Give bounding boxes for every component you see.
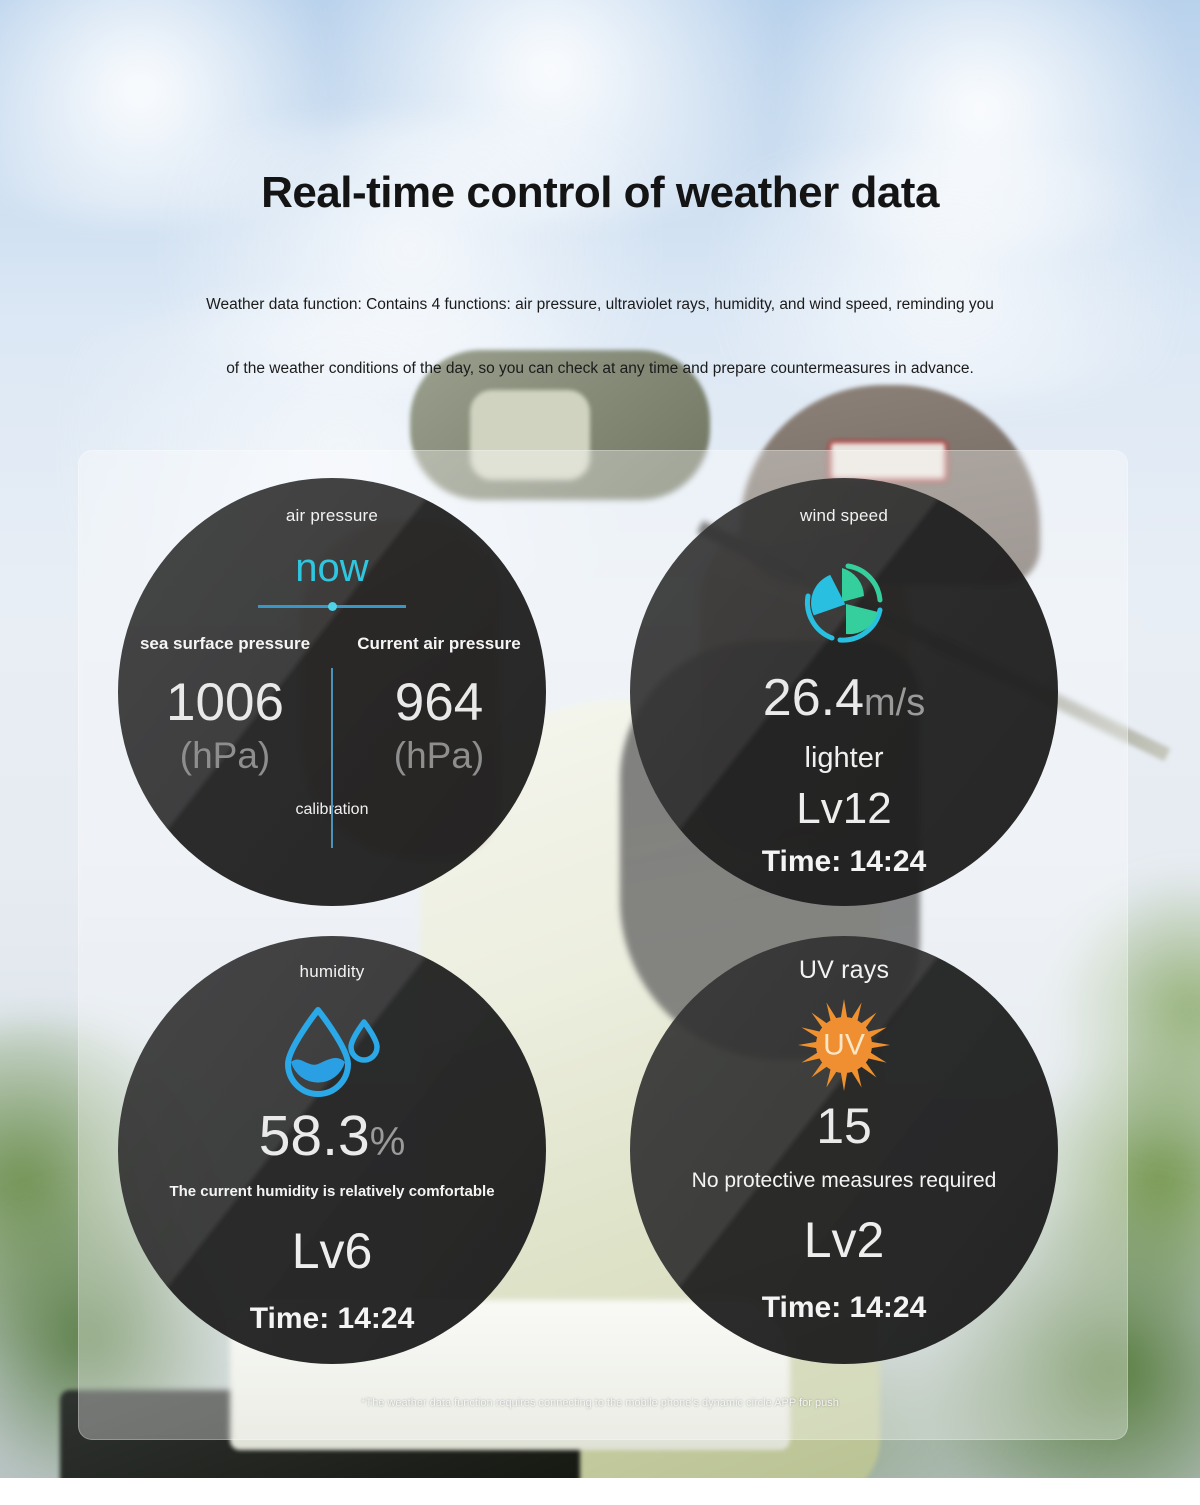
uv-rays-description: No protective measures required	[630, 1169, 1058, 1193]
humidity-level: Lv6	[118, 1226, 546, 1276]
tile-wind-speed[interactable]: wind speed 26.4m/s lighter Lv12 Time: 14…	[630, 478, 1058, 906]
fan-icon	[788, 550, 900, 654]
current-air-pressure-column: Current air pressure 964 (hPa)	[332, 634, 546, 774]
current-air-pressure-unit: (hPa)	[332, 737, 546, 774]
current-air-pressure-label: Current air pressure	[332, 634, 546, 654]
air-pressure-now-label: now	[118, 548, 546, 588]
tile-uv-rays[interactable]: UV rays UV 15 No protective measures req…	[630, 936, 1058, 1364]
sea-surface-pressure-label: sea surface pressure	[118, 634, 332, 654]
subtitle-line-1: Weather data function: Contains 4 functi…	[0, 296, 1200, 314]
uv-sun-icon: UV	[792, 995, 896, 1095]
wind-speed-reading: 26.4m/s	[630, 672, 1058, 724]
tile-humidity[interactable]: humidity 58.3% The current humidity is r…	[118, 936, 546, 1364]
water-droplet-icon	[280, 998, 384, 1098]
humidity-description: The current humidity is relatively comfo…	[118, 1183, 546, 1200]
uv-rays-level: Lv2	[630, 1215, 1058, 1265]
uv-rays-reading: 15	[630, 1101, 1058, 1151]
wind-speed-value: 26.4	[763, 669, 864, 727]
sea-surface-pressure-unit: (hPa)	[118, 737, 332, 774]
header: Real-time control of weather data Weathe…	[0, 0, 1200, 378]
pressure-slider-icon[interactable]	[258, 605, 406, 608]
pressure-slider-knob[interactable]	[328, 602, 337, 611]
sea-surface-pressure-value: 1006	[118, 676, 332, 729]
tile-air-pressure[interactable]: air pressure now sea surface pressure 10…	[118, 478, 546, 906]
humidity-unit: %	[370, 1120, 406, 1164]
footnote: *The weather data function requires conn…	[0, 1397, 1200, 1409]
uv-sun-icon-label: UV	[823, 1029, 865, 1062]
wind-speed-unit: m/s	[864, 682, 925, 724]
humidity-reading: 58.3%	[118, 1108, 546, 1165]
uv-rays-value: 15	[816, 1098, 872, 1154]
humidity-value: 58.3	[259, 1104, 370, 1168]
page-title: Real-time control of weather data	[0, 168, 1200, 218]
wind-speed-level: Lv12	[630, 787, 1058, 831]
vertical-divider	[331, 668, 333, 848]
current-air-pressure-value: 964	[332, 676, 546, 729]
sea-surface-pressure-column: sea surface pressure 1006 (hPa)	[118, 634, 332, 774]
wind-speed-description: lighter	[630, 742, 1058, 775]
subtitle-line-2: of the weather conditions of the day, so…	[0, 360, 1200, 378]
